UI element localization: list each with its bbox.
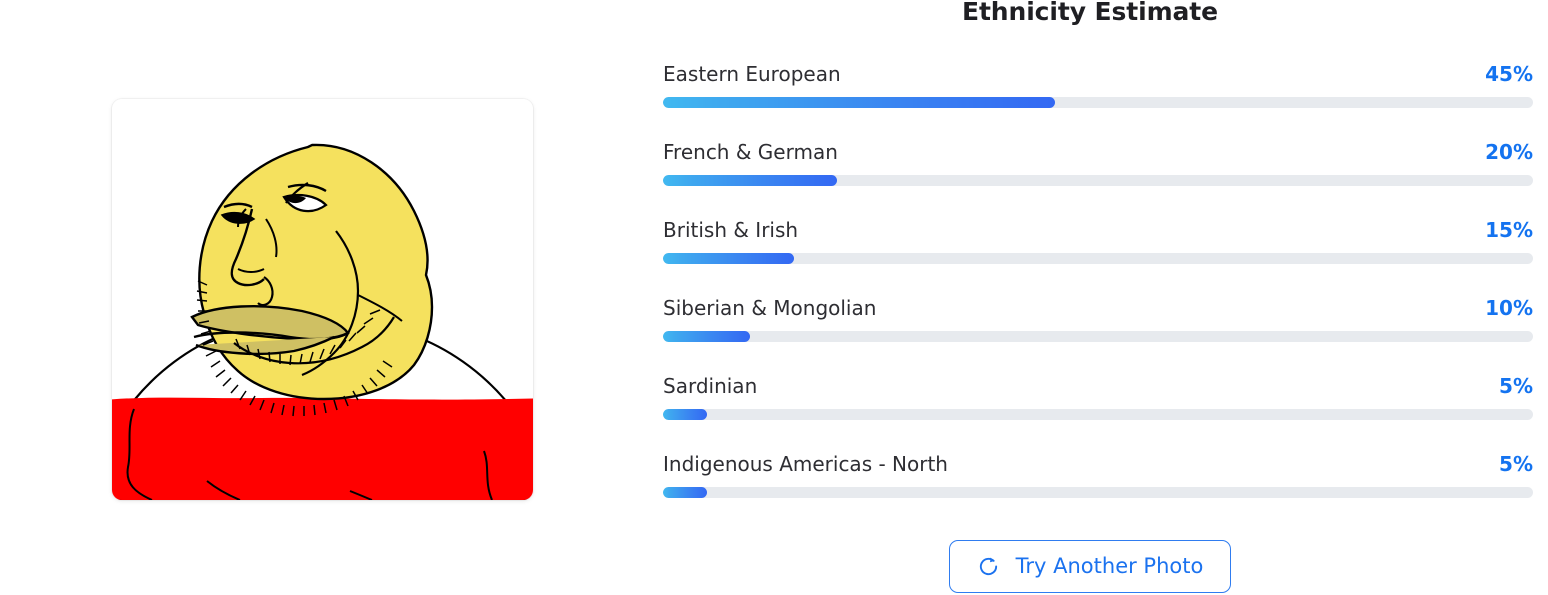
ethnicity-row-header: British & Irish 15% (663, 215, 1533, 245)
ethnicity-row: British & Irish 15% (663, 215, 1533, 293)
ethnicity-progress-fill (663, 331, 750, 342)
ethnicity-row: French & German 20% (663, 137, 1533, 215)
ethnicity-percent: 20% (1485, 137, 1533, 167)
ethnicity-progress-fill (663, 253, 794, 264)
ethnicity-row-header: Eastern European 45% (663, 59, 1533, 89)
ethnicity-percent: 5% (1499, 371, 1533, 401)
ethnicity-row: Sardinian 5% (663, 371, 1533, 449)
try-another-photo-button[interactable]: Try Another Photo (949, 540, 1232, 593)
ethnicity-percent: 5% (1499, 449, 1533, 479)
try-another-photo-label: Try Another Photo (1016, 556, 1204, 577)
ethnicity-progress-fill (663, 97, 1055, 108)
ethnicity-label: British & Irish (663, 215, 798, 245)
photo-panel (0, 0, 645, 595)
ethnicity-row: Indigenous Americas - North 5% (663, 449, 1533, 527)
ethnicity-progress-track (663, 175, 1533, 186)
ethnicity-progress-track (663, 253, 1533, 264)
ethnicity-progress-fill (663, 409, 707, 420)
results-panel: Ethnicity Estimate Eastern European 45% … (645, 0, 1548, 595)
ethnicity-label: Eastern European (663, 59, 841, 89)
cartoon-face-photo (112, 99, 533, 500)
page-title: Ethnicity Estimate (645, 0, 1535, 32)
ethnicity-list: Eastern European 45% French & German 20% (663, 59, 1533, 527)
ethnicity-row: Siberian & Mongolian 10% (663, 293, 1533, 371)
ethnicity-label: French & German (663, 137, 838, 167)
refresh-icon (977, 555, 1000, 578)
ethnicity-progress-track (663, 97, 1533, 108)
ethnicity-progress-fill (663, 487, 707, 498)
ethnicity-progress-fill (663, 175, 837, 186)
ethnicity-row-header: Indigenous Americas - North 5% (663, 449, 1533, 479)
ethnicity-row: Eastern European 45% (663, 59, 1533, 137)
retry-button-wrapper: Try Another Photo (645, 540, 1535, 593)
ethnicity-label: Siberian & Mongolian (663, 293, 876, 323)
ethnicity-percent: 10% (1485, 293, 1533, 323)
ethnicity-row-header: Siberian & Mongolian 10% (663, 293, 1533, 323)
ethnicity-progress-track (663, 409, 1533, 420)
ethnicity-row-header: Sardinian 5% (663, 371, 1533, 401)
ethnicity-percent: 45% (1485, 59, 1533, 89)
ethnicity-label: Indigenous Americas - North (663, 449, 948, 479)
ethnicity-result-page: Ethnicity Estimate Eastern European 45% … (0, 0, 1548, 595)
uploaded-photo-card[interactable] (112, 99, 533, 500)
ethnicity-progress-track (663, 487, 1533, 498)
ethnicity-row-header: French & German 20% (663, 137, 1533, 167)
ethnicity-label: Sardinian (663, 371, 757, 401)
ethnicity-percent: 15% (1485, 215, 1533, 245)
ethnicity-progress-track (663, 331, 1533, 342)
